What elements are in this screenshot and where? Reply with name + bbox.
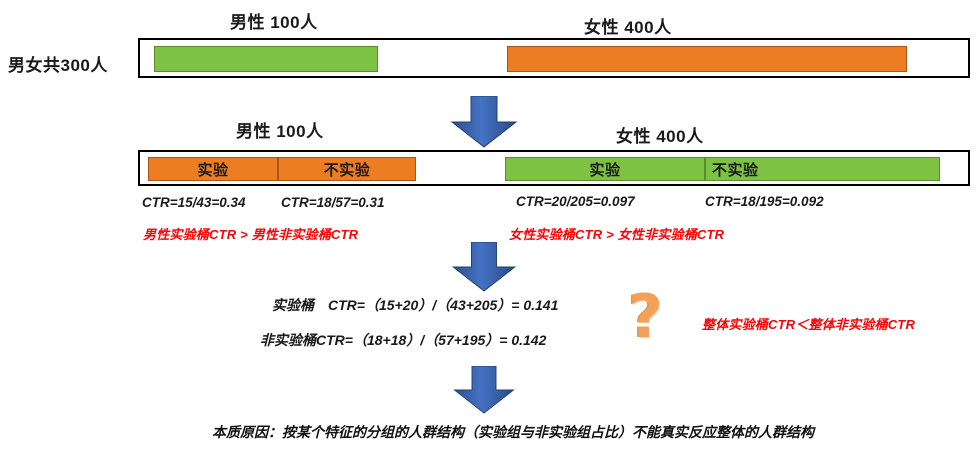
arrow-down-icon-3 <box>448 366 520 414</box>
ctr-label-female-experiment: CTR=20/205=0.097 <box>516 194 635 209</box>
arrow-down-icon-2 <box>448 242 520 292</box>
total-population-label: 男女共300人 <box>8 51 108 76</box>
ctr-label-female-control: CTR=18/195=0.092 <box>705 194 824 209</box>
calculation-line-experiment: 实验桶 CTR=（15+20）/（43+205）= 0.141 <box>272 295 558 315</box>
ctr-label-male-control: CTR=18/57=0.31 <box>281 195 385 210</box>
overall-comparison: 整体实验桶CTR＜整体非实验桶CTR <box>702 314 915 333</box>
row1-female-segment <box>507 46 907 72</box>
row2-male-control-segment: 不实验 <box>278 157 416 181</box>
row2-female-control-label: 不实验 <box>712 159 759 180</box>
row2-male-experiment-label: 实验 <box>197 159 228 180</box>
conclusion-text: 本质原因：按某个特征的分组的人群结构（实验组与非实验组占比）不能真实反应整体的人… <box>212 422 814 442</box>
row2-male-buckets: 实验 不实验 <box>148 157 416 181</box>
row1-male-segment <box>154 46 378 72</box>
row1-male-label: 男性 100人 <box>230 8 318 33</box>
row2-male-header: 男性 100人 <box>236 117 324 142</box>
comparison-female: 女性实验桶CTR > 女性非实验桶CTR <box>509 224 724 243</box>
ctr-label-male-experiment: CTR=15/43=0.34 <box>142 195 246 210</box>
row1-female-label: 女性 400人 <box>584 13 672 38</box>
calculation-line-control: 非实验桶CTR=（18+18）/（57+195）= 0.142 <box>260 330 546 350</box>
row2-bar-track: 实验 不实验 实验 不实验 <box>138 150 970 186</box>
question-mark-icon: ? <box>628 287 663 347</box>
comparison-male: 男性实验桶CTR > 男性非实验桶CTR <box>143 224 358 243</box>
row2-female-experiment-label: 实验 <box>589 159 620 180</box>
row2-female-buckets: 实验 不实验 <box>505 157 940 181</box>
row2-female-control-segment: 不实验 <box>705 157 940 181</box>
row2-male-experiment-segment: 实验 <box>148 157 278 181</box>
row2-female-header: 女性 400人 <box>616 122 704 147</box>
arrow-down-icon-1 <box>448 96 520 148</box>
row2-female-experiment-segment: 实验 <box>505 157 705 181</box>
row2-male-control-label: 不实验 <box>324 159 371 180</box>
row1-bar-track <box>138 38 970 78</box>
